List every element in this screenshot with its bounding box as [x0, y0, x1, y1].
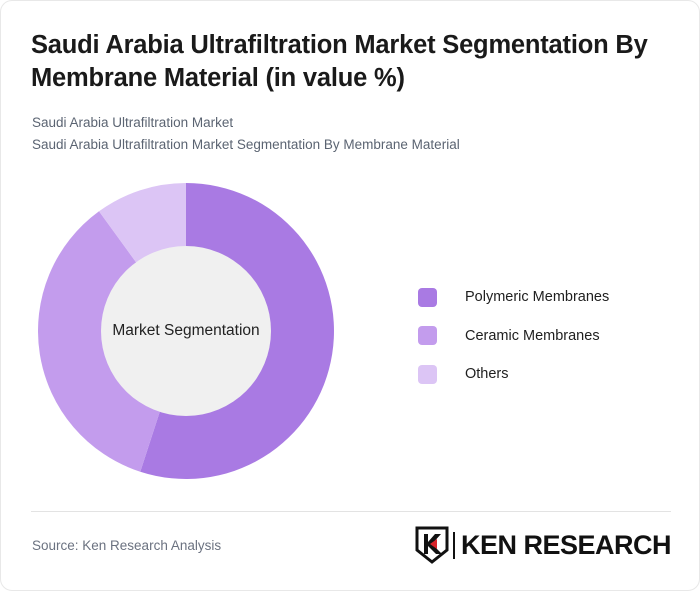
legend-label-polymeric-membranes: Polymeric Membranes — [465, 289, 609, 305]
brand-name: KEN RESEARCH — [461, 530, 671, 561]
subtitle-line-1: Saudi Arabia Ultrafiltration Market — [32, 112, 652, 134]
legend-label-ceramic-membranes: Ceramic Membranes — [465, 328, 600, 344]
legend-label-others: Others — [465, 366, 509, 382]
subtitle-block: Saudi Arabia Ultrafiltration Market Saud… — [32, 112, 652, 156]
ken-research-shield-icon — [415, 526, 449, 564]
chart-legend: Polymeric Membranes Ceramic Membranes Ot… — [418, 278, 609, 394]
footer-divider — [31, 511, 671, 512]
legend-item-others[interactable]: Others — [418, 355, 609, 394]
donut-chart: Market Segmentation — [38, 183, 334, 479]
donut-svg — [38, 183, 334, 479]
source-note: Source: Ken Research Analysis — [32, 538, 221, 553]
brand-divider — [453, 532, 455, 559]
legend-item-polymeric-membranes[interactable]: Polymeric Membranes — [418, 278, 609, 317]
chart-area: Market Segmentation Polymeric Membranes … — [1, 166, 700, 496]
donut-hole — [101, 246, 271, 416]
legend-item-ceramic-membranes[interactable]: Ceramic Membranes — [418, 317, 609, 356]
brand-logo: KEN RESEARCH — [415, 525, 671, 565]
legend-swatch-icon-others — [418, 365, 437, 384]
chart-card: Saudi Arabia Ultrafiltration Market Segm… — [0, 0, 700, 591]
legend-swatch-icon-ceramic-membranes — [418, 326, 437, 345]
subtitle-line-2: Saudi Arabia Ultrafiltration Market Segm… — [32, 134, 652, 156]
page-title: Saudi Arabia Ultrafiltration Market Segm… — [31, 29, 663, 94]
legend-swatch-icon-polymeric-membranes — [418, 288, 437, 307]
